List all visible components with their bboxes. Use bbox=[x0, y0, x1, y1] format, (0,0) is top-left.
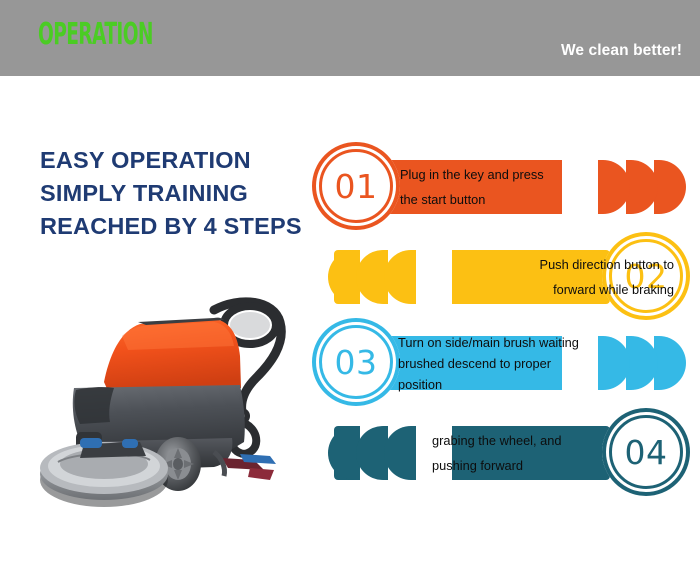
blue-cap-right bbox=[122, 439, 138, 448]
blue-cap-left bbox=[80, 438, 102, 448]
chevron-arc-icon bbox=[654, 336, 686, 390]
step-row-04: grabing the wheel, and pushing forward 0… bbox=[312, 408, 690, 498]
step-text-line: pushing forward bbox=[432, 453, 682, 478]
step-text-line: brushed descend to proper bbox=[398, 353, 648, 374]
step-number-badge-03: 03 bbox=[312, 318, 400, 406]
step-text-line: position bbox=[398, 374, 648, 395]
step-text-02: Push direction button to forward while b… bbox=[434, 250, 684, 304]
headline-line-3: REACHED BY 4 STEPS bbox=[40, 210, 340, 243]
step-text-line: forward while braking bbox=[553, 277, 674, 302]
page-title: EASY OPERATION SIMPLY TRAINING REACHED B… bbox=[40, 144, 340, 243]
headline-line-1: EASY OPERATION bbox=[40, 144, 340, 177]
floor-scrubber-image bbox=[18, 292, 308, 517]
page-header: OPERATION We clean better! bbox=[0, 0, 700, 76]
headline-line-2: SIMPLY TRAINING bbox=[40, 177, 340, 210]
step-number-03: 03 bbox=[335, 346, 378, 379]
tagline: We clean better! bbox=[561, 42, 682, 60]
chevron-arc-icon bbox=[654, 160, 686, 214]
step-number-01: 01 bbox=[335, 170, 378, 203]
step-text-line: Push direction button to bbox=[540, 252, 674, 277]
step-text-03: Turn on side/main brush waiting brushed … bbox=[398, 336, 648, 390]
step-row-01: Plug in the key and press the start butt… bbox=[312, 142, 690, 232]
step-row-03: Turn on side/main brush waiting brushed … bbox=[312, 318, 690, 408]
chevron-group-02 bbox=[324, 250, 416, 304]
chevron-group-04 bbox=[324, 426, 416, 480]
step-number-badge-01: 01 bbox=[312, 142, 400, 230]
step-text-line: Turn on side/main brush waiting bbox=[398, 332, 648, 353]
brand-title: OPERATION bbox=[38, 20, 153, 50]
step-text-line: the start button bbox=[400, 187, 650, 212]
step-text-04: grabing the wheel, and pushing forward bbox=[432, 426, 682, 480]
step-text-01: Plug in the key and press the start butt… bbox=[400, 160, 650, 214]
step-text-line: Plug in the key and press bbox=[400, 162, 650, 187]
step-row-02: Push direction button to forward while b… bbox=[312, 232, 690, 322]
step-text-line: grabing the wheel, and bbox=[432, 428, 682, 453]
